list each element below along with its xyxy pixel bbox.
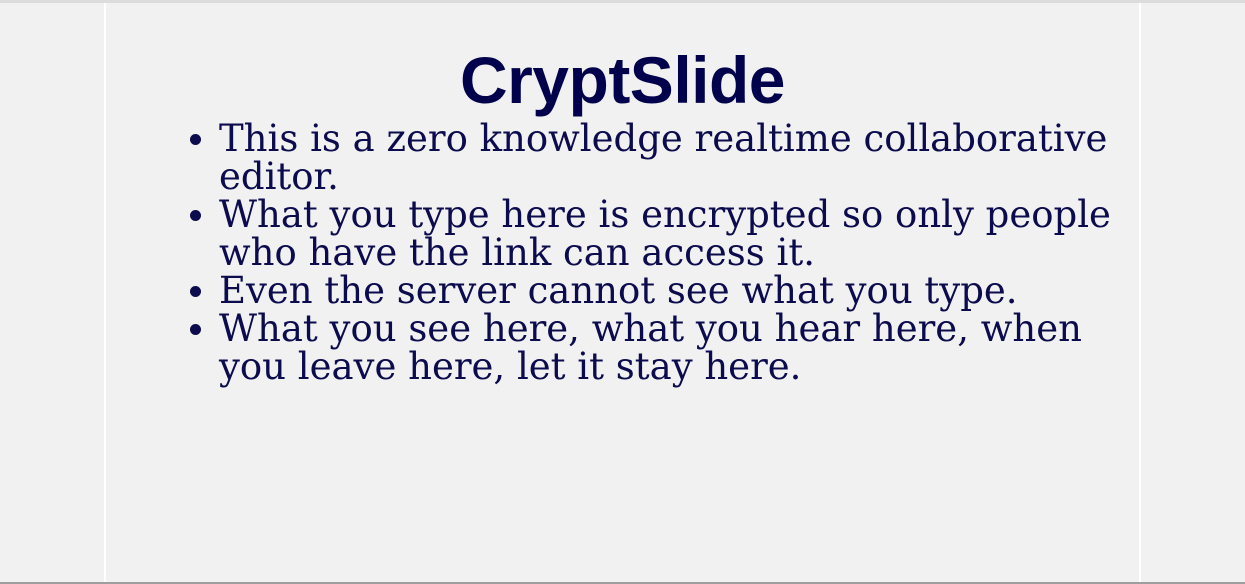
slide-canvas[interactable]: CryptSlide This is a zero knowledge real…: [106, 3, 1139, 582]
slide-bullet-list: This is a zero knowledge realtime collab…: [148, 120, 1119, 386]
bullet-text: What you see here, what you hear here, w…: [219, 310, 1119, 386]
slide-edge-right: [1139, 3, 1141, 582]
slide-gutter-right: [1141, 3, 1245, 582]
bullet-point-icon: [190, 134, 201, 145]
bullet-point-icon: [190, 324, 201, 335]
bullet-point-icon: [190, 210, 201, 221]
list-item[interactable]: Even the server cannot see what you type…: [148, 272, 1119, 310]
bullet-text: This is a zero knowledge realtime collab…: [219, 120, 1119, 196]
bullet-text: What you type here is encrypted so only …: [219, 196, 1119, 272]
slide-title: CryptSlide: [106, 41, 1139, 119]
slide-gutter-left: [0, 3, 104, 582]
bullet-point-icon: [190, 286, 201, 297]
list-item[interactable]: What you see here, what you hear here, w…: [148, 310, 1119, 386]
list-item[interactable]: This is a zero knowledge realtime collab…: [148, 120, 1119, 196]
list-item[interactable]: What you type here is encrypted so only …: [148, 196, 1119, 272]
bullet-text: Even the server cannot see what you type…: [219, 272, 1119, 310]
slide-viewer-root: CryptSlide This is a zero knowledge real…: [0, 0, 1245, 584]
